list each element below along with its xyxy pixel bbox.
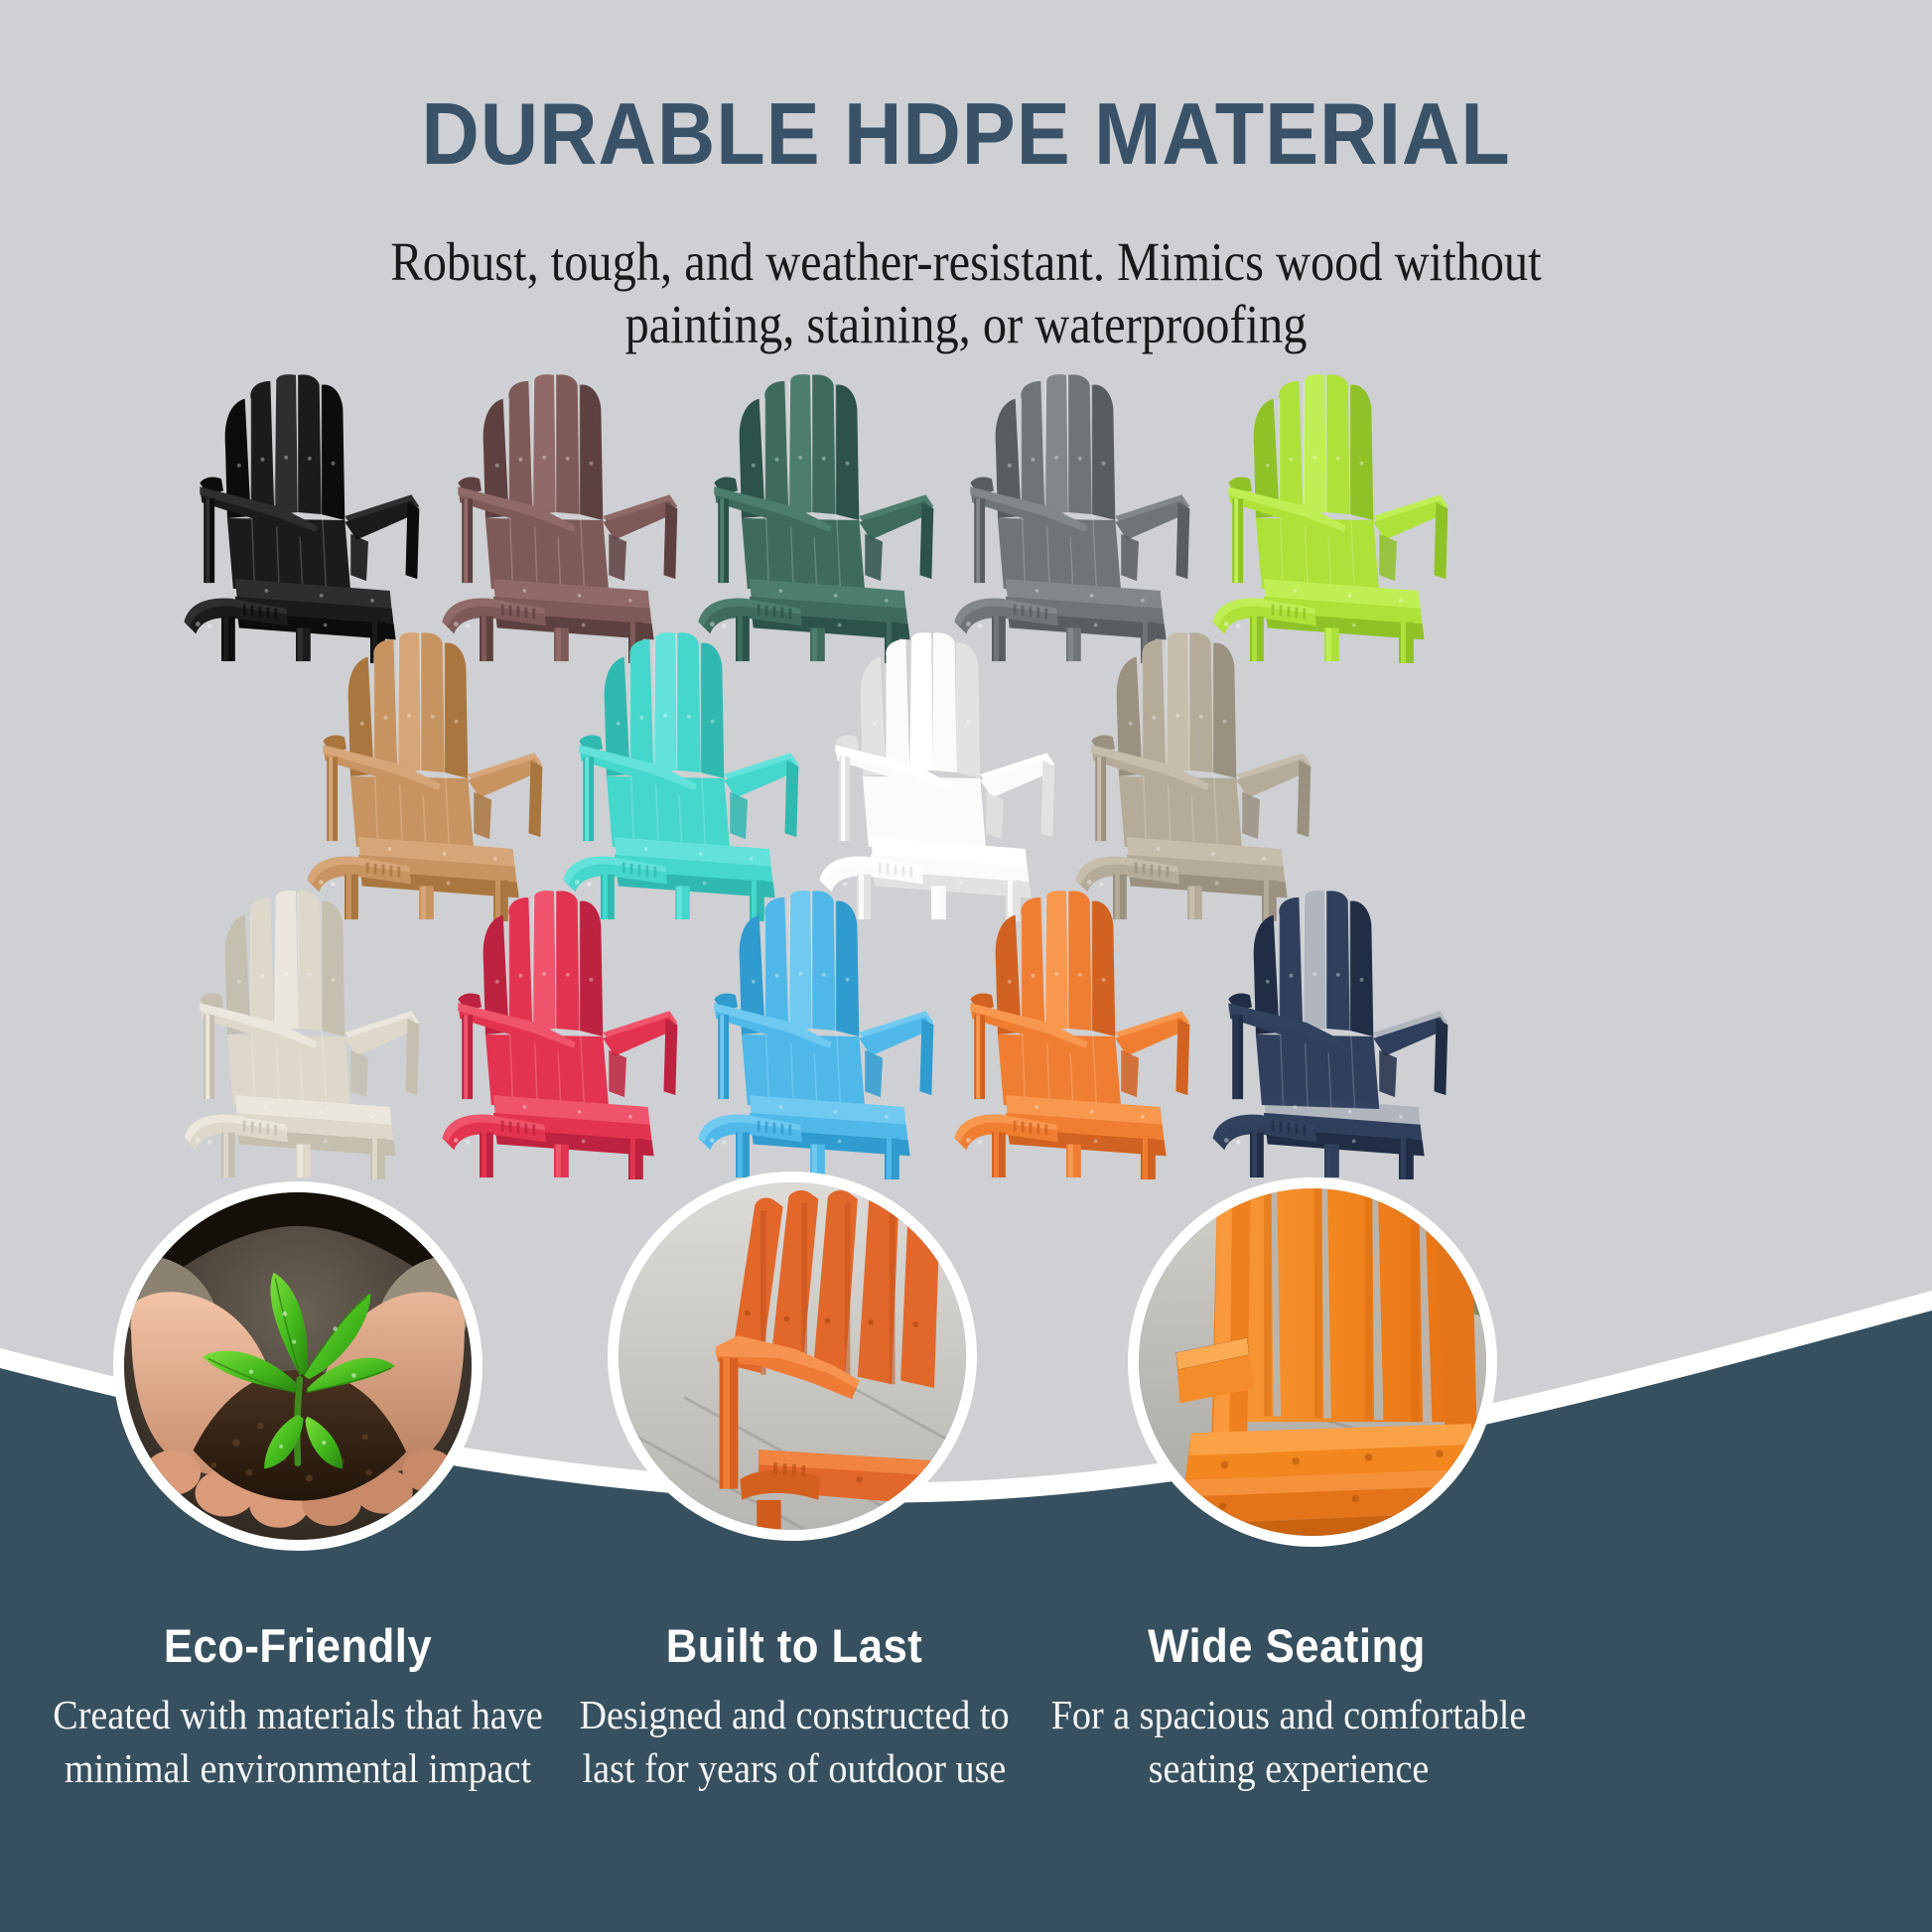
feature-image-eco-friendly (113, 1181, 483, 1551)
feature-desc-eco-friendly: Created with materials that have minimal… (51, 1688, 545, 1795)
chair-swatch-orange[interactable] (919, 886, 1213, 1179)
feature-desc-line-1: Created with materials that have (51, 1688, 545, 1741)
chair-swatch-lime-green[interactable] (1177, 369, 1471, 663)
adirondack-chair-brown (407, 369, 701, 663)
feature-title-wide-seating: Wide Seating (1056, 1618, 1518, 1673)
subtitle-line-1: Robust, tough, and weather-resistant. Mi… (345, 230, 1587, 293)
adirondack-chair-navy-blue (1177, 886, 1471, 1179)
adirondack-chair-black (149, 369, 443, 663)
adirondack-chair-lime-green (1177, 369, 1471, 663)
adirondack-chair-dark-green (663, 369, 957, 663)
chair-swatch-taupe[interactable] (1040, 627, 1334, 921)
chair-swatch-sky-blue[interactable] (663, 886, 957, 1179)
subtitle-line-2: painting, staining, or waterproofing (345, 293, 1587, 355)
chair-swatch-ivory[interactable] (149, 886, 443, 1179)
chair-swatch-navy-blue[interactable] (1177, 886, 1471, 1179)
adirondack-chair-orange (919, 886, 1213, 1179)
feature-desc-built-to-last: Designed and constructed to last for yea… (545, 1688, 1043, 1795)
chair-swatch-gray[interactable] (919, 369, 1213, 663)
adirondack-chair-teak (272, 627, 566, 921)
feature-title-built-to-last: Built to Last (573, 1618, 1016, 1673)
feature-image-built-to-last (608, 1172, 977, 1541)
feature-desc-line-2: seating experience (1037, 1741, 1540, 1795)
chair-swatch-black[interactable] (149, 369, 443, 663)
feature-image-wide-seating (1128, 1177, 1497, 1547)
feature-desc-line-1: For a spacious and comfortable (1037, 1688, 1540, 1741)
infographic-canvas: DURABLE HDPE MATERIAL Robust, tough, and… (0, 0, 1932, 1932)
page-subtitle: Robust, tough, and weather-resistant. Mi… (345, 230, 1587, 356)
page-title: DURABLE HDPE MATERIAL (77, 83, 1855, 185)
adirondack-chair-gray (919, 369, 1213, 663)
chair-swatch-dark-green[interactable] (663, 369, 957, 663)
chair-swatch-brown[interactable] (407, 369, 701, 663)
feature-title-eco-friendly: Eco-Friendly (76, 1618, 519, 1673)
chair-swatch-white[interactable] (784, 627, 1078, 921)
adirondack-chair-red (407, 886, 701, 1179)
feature-desc-wide-seating: For a spacious and comfortable seating e… (1037, 1688, 1540, 1795)
feature-desc-line-2: last for years of outdoor use (545, 1741, 1043, 1795)
adirondack-chair-turquoise (528, 627, 822, 921)
orange-chair-wide-seat-closeup-photo (1139, 1188, 1486, 1536)
feature-desc-line-2: minimal environmental impact (51, 1741, 545, 1795)
chair-swatch-teak[interactable] (272, 627, 566, 921)
orange-chair-on-patio-photo (619, 1182, 966, 1530)
adirondack-chair-ivory (149, 886, 443, 1179)
adirondack-chair-white (784, 627, 1078, 921)
adirondack-chair-taupe (1040, 627, 1334, 921)
chair-swatch-turquoise[interactable] (528, 627, 822, 921)
hands-holding-seedling-photo (124, 1192, 472, 1540)
chair-swatch-red[interactable] (407, 886, 701, 1179)
adirondack-chair-sky-blue (663, 886, 957, 1179)
feature-desc-line-1: Designed and constructed to (545, 1688, 1043, 1741)
